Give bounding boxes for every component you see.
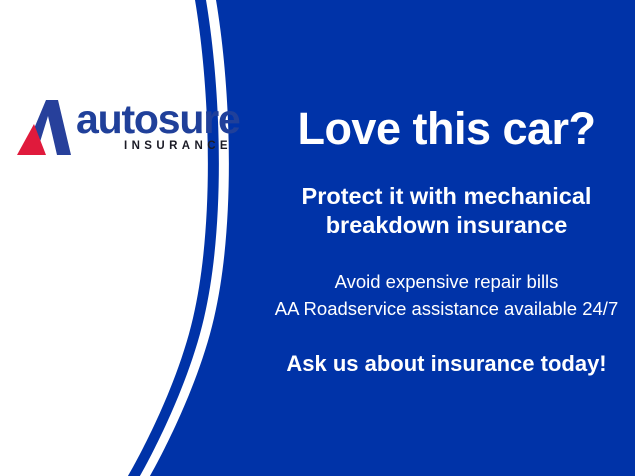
headline: Love this car? [258,104,635,154]
benefit-line-2: AA Roadservice assistance available 24/7 [258,295,635,322]
subheadline-line-1: Protect it with mechanical [302,183,592,209]
benefits-list: Avoid expensive repair bills AA Roadserv… [258,268,635,322]
subheadline-line-2: breakdown insurance [258,211,635,240]
subheadline: Protect it with mechanical breakdown ins… [258,182,635,240]
autosure-logo: autosure INSURANCE [16,96,231,164]
autosure-insurance-banner: autosure INSURANCE Love this car? Protec… [0,0,635,476]
marketing-copy-column: Love this car? Protect it with mechanica… [258,0,635,476]
call-to-action: Ask us about insurance today! [258,350,635,377]
benefit-line-1: Avoid expensive repair bills [335,271,559,292]
autosure-wordmark: autosure [76,96,232,142]
autosure-a-mark-icon [16,98,72,156]
autosure-subtitle: INSURANCE [124,140,232,152]
